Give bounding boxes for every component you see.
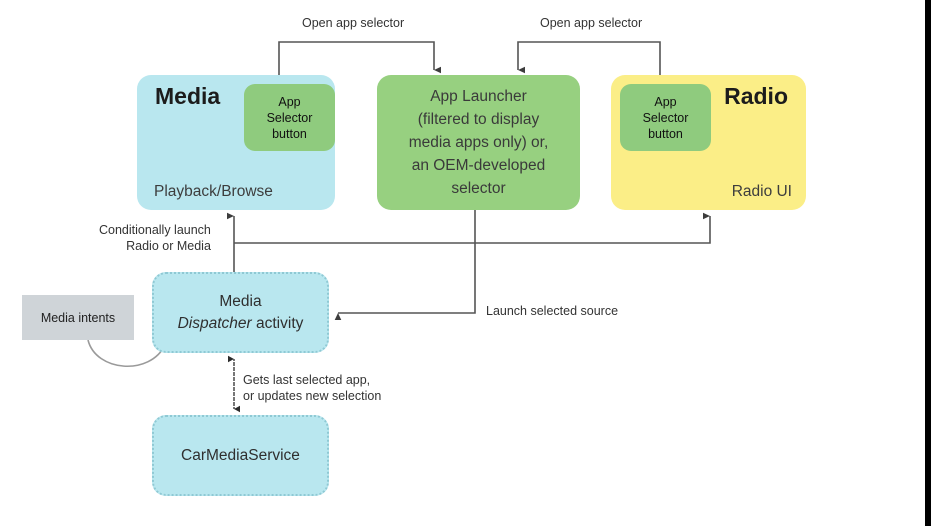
radio-footer-label: Radio UI — [732, 183, 792, 201]
radio-app-selector-button[interactable]: App Selector button — [620, 84, 711, 151]
radio-title: Radio — [724, 83, 788, 110]
edge-label-gets-last-selected: Gets last selected app, or updates new s… — [243, 372, 381, 404]
edge-conditionally-launch-radio — [234, 216, 710, 243]
media-title: Media — [155, 83, 220, 110]
media-dispatcher-suffix: activity — [252, 315, 304, 332]
radio-app-selector-button-label: App Selector button — [643, 94, 689, 142]
edge-open-app-selector-left — [279, 42, 434, 75]
edge-label-conditionally-launch: Conditionally launch Radio or Media — [99, 222, 211, 254]
node-app-launcher[interactable]: App Launcher (filtered to display media … — [377, 75, 580, 210]
right-edge-bar — [925, 0, 931, 526]
media-footer-label: Playback/Browse — [154, 183, 273, 201]
media-dispatcher-line1: Media — [178, 291, 304, 313]
media-app-selector-button[interactable]: App Selector button — [244, 84, 335, 151]
edge-open-app-selector-right — [518, 42, 660, 75]
media-dispatcher-line2: Dispatcher activity — [178, 313, 304, 335]
edge-label-open-app-selector-left: Open app selector — [302, 15, 404, 31]
app-launcher-text: App Launcher (filtered to display media … — [399, 85, 559, 200]
node-media-intents[interactable]: Media intents — [22, 295, 134, 340]
edge-label-open-app-selector-right: Open app selector — [540, 15, 642, 31]
media-intents-label: Media intents — [41, 311, 115, 325]
edge-launch-selected-source — [338, 210, 475, 313]
node-car-media-service[interactable]: CarMediaService — [152, 415, 329, 496]
car-media-service-label: CarMediaService — [181, 447, 300, 465]
media-dispatcher-emphasis: Dispatcher — [178, 315, 252, 332]
media-dispatcher-text: Media Dispatcher activity — [178, 291, 304, 335]
edge-label-launch-selected-source: Launch selected source — [486, 303, 618, 319]
node-media-dispatcher-activity[interactable]: Media Dispatcher activity — [152, 272, 329, 353]
media-app-selector-button-label: App Selector button — [267, 94, 313, 142]
diagram-canvas: Media App Selector button Playback/Brows… — [0, 0, 931, 526]
node-radio[interactable]: Radio App Selector button Radio UI — [611, 75, 806, 210]
node-media[interactable]: Media App Selector button Playback/Brows… — [137, 75, 335, 210]
